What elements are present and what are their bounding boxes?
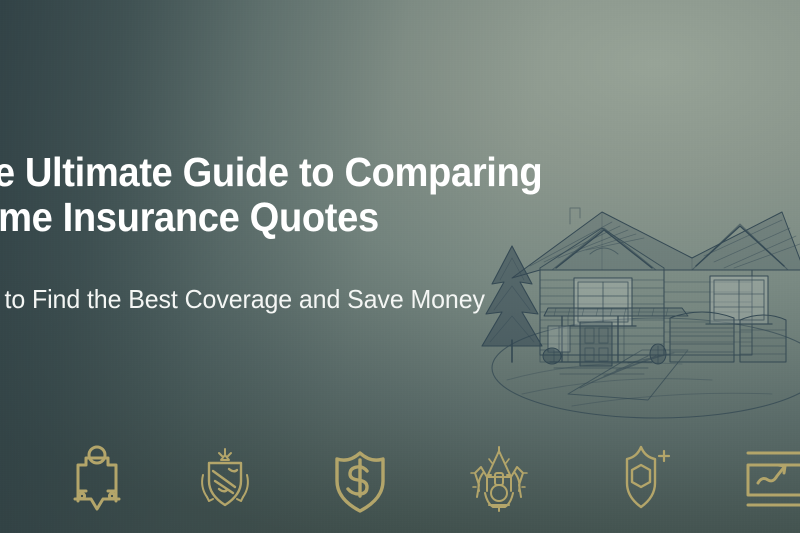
icon-strip [0, 421, 800, 533]
headline-block: The Ultimate Guide to Comparing Home Ins… [0, 150, 648, 314]
crest-shield-icon [189, 443, 261, 515]
hero-banner: The Ultimate Guide to Comparing Home Ins… [0, 0, 800, 533]
page-subtitle: How to Find the Best Coverage and Save M… [0, 240, 620, 314]
page-title-line-1: The Ultimate Guide to Comparing [0, 150, 599, 195]
emblem-ornament-icon [463, 443, 535, 515]
hexagon-shield-sparkle-icon [609, 443, 681, 515]
house-book-icon [61, 443, 133, 515]
chart-report-icon [742, 443, 800, 515]
page-title-line-2: Home Insurance Quotes [0, 195, 599, 240]
dollar-shield-icon [324, 443, 396, 515]
